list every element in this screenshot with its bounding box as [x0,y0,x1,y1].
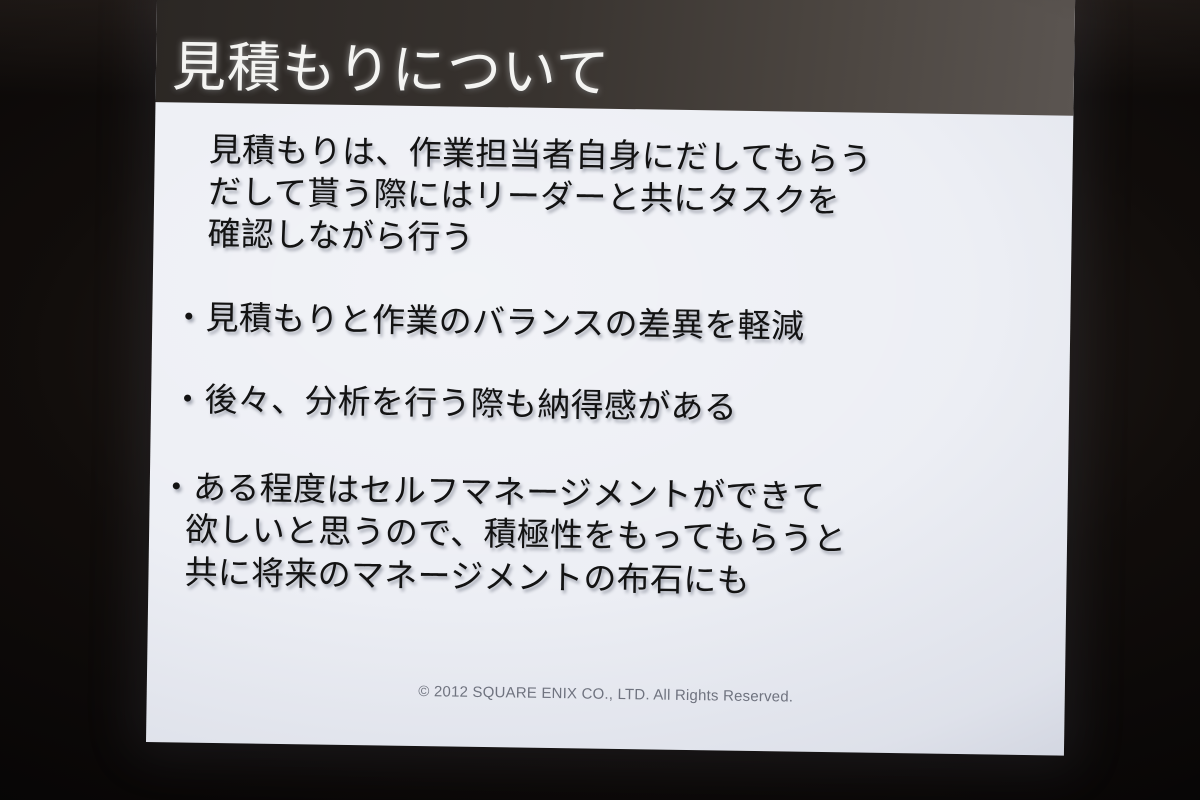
slide-title-bar: 見積もりについて [155,0,1075,116]
projection-screen: 見積もりについて 見積もりは、作業担当者自身にだしてもらう だして貰う際にはリー… [146,0,1075,756]
bullet-marker: ・ [159,467,193,506]
slide-footer: © 2012 SQUARE ENIX CO., LTD. All Rights … [147,677,1065,710]
slide-body: 見積もりは、作業担当者自身にだしてもらう だして貰う際にはリーダーと共にタスクを… [148,102,1073,606]
bullet-text: 見積もりと作業のバランスの差異を軽減 [205,298,804,346]
bullet-marker: ・ [171,379,205,418]
slide-title: 見積もりについて [172,39,611,101]
presentation-slide: 見積もりについて 見積もりは、作業担当者自身にだしてもらう だして貰う際にはリー… [146,0,1075,756]
photo-frame: 見積もりについて 見積もりは、作業担当者自身にだしてもらう だして貰う際にはリー… [0,0,1200,800]
bullet-text: 後々、分析を行う際も納得感がある [204,380,737,427]
copyright-notice: © 2012 SQUARE ENIX CO., LTD. All Rights … [418,683,793,706]
intro-paragraph: 見積もりは、作業担当者自身にだしてもらう だして貰う際にはリーダーと共にタスクを… [207,129,1043,267]
bullet-text: ある程度はセルフマネージメントができて [193,468,826,516]
bullet-marker: ・ [172,297,206,336]
bullet-list: ・見積もりと作業のバランスの差異を軽減 ・後々、分析を行う際も納得感がある ・あ… [156,296,1040,606]
bullet-item: ・ある程度はセルフマネージメントができて 欲しいと思うので、積極性をもってもらう… [158,466,1038,606]
